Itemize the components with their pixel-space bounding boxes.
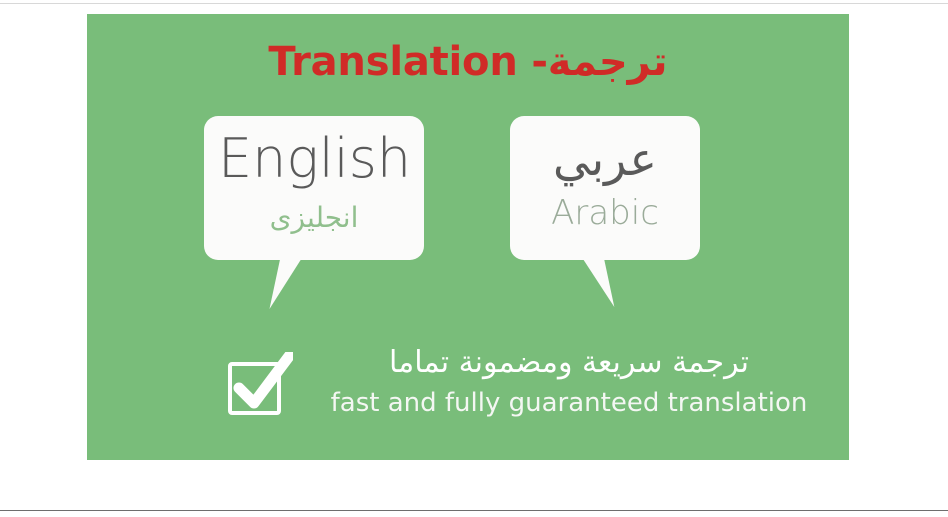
speech-bubble-english: English انجليزى: [204, 116, 424, 260]
guarantee-english-label: fast and fully guaranteed translation: [313, 388, 825, 419]
bubble-arabic-secondary-label: Arabic: [524, 196, 686, 230]
bubble-english-primary-label: English: [218, 132, 410, 186]
bubble-english-secondary-label: انجليزى: [218, 204, 410, 232]
guarantee-row: ترجمة سريعة ومضمونة تماما fast and fully…: [227, 336, 827, 436]
bubble-arabic-primary-label: عربي: [524, 136, 686, 182]
guarantee-arabic-label: ترجمة سريعة ومضمونة تماما: [313, 344, 825, 382]
bottom-divider: [0, 510, 948, 511]
checkbox-checked-icon: [227, 352, 293, 418]
translation-poster: Translation -ترجمة English انجليزى عربي …: [87, 14, 849, 460]
speech-bubble-english-tail: [269, 257, 302, 309]
speech-bubble-arabic: عربي Arabic: [510, 116, 700, 260]
page-title: Translation -ترجمة: [87, 40, 849, 84]
top-divider: [0, 3, 948, 4]
speech-bubble-arabic-tail: [582, 257, 615, 307]
guarantee-text-block: ترجمة سريعة ومضمونة تماما fast and fully…: [313, 344, 825, 419]
